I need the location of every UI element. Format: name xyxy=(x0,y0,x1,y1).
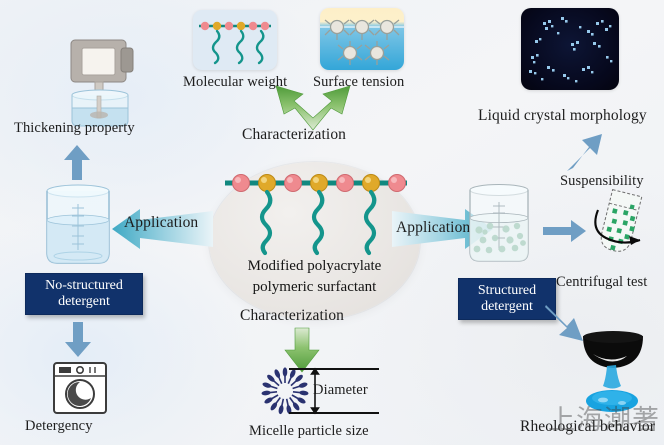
characterization-top-label: Characterization xyxy=(242,126,346,144)
up-arrow-left xyxy=(62,143,92,181)
center-title-line1: Modified polyacrylate xyxy=(209,258,420,275)
center-oval: Modified polyacrylate polymeric surfacta… xyxy=(209,162,420,320)
diameter-label: Diameter xyxy=(313,382,368,399)
no-structured-detergent-line2: detergent xyxy=(32,294,136,310)
thickening-property-icon xyxy=(55,6,153,116)
application-right-label: Application xyxy=(396,219,470,237)
rheological-behavior-icon xyxy=(577,332,663,418)
no-structured-detergent-box[interactable]: No-structured detergent xyxy=(25,273,143,315)
characterization-up-arrow xyxy=(254,84,372,130)
polymer-chain-icon xyxy=(221,170,411,262)
washing-machine-icon xyxy=(52,361,108,415)
right-arrow-centrifuge xyxy=(543,218,588,244)
structured-detergent-beaker-icon xyxy=(461,182,537,272)
no-structured-detergent-beaker-icon xyxy=(38,182,118,274)
application-left-label: Application xyxy=(124,214,198,232)
thickening-property-label: Thickening property xyxy=(14,120,135,137)
detergency-label: Detergency xyxy=(25,418,93,435)
figure-canvas: Modified polyacrylate polymeric surfacta… xyxy=(0,0,664,445)
structured-detergent-line2: detergent xyxy=(465,299,549,315)
surface-tension-icon xyxy=(320,8,404,70)
molecular-weight-icon xyxy=(193,10,277,70)
liquid-crystal-morphology-icon xyxy=(521,8,619,90)
structured-detergent-line1: Structured xyxy=(465,283,549,299)
center-title-line2: polymeric surfactant xyxy=(209,279,420,296)
centrifugal-test-icon xyxy=(592,188,658,266)
suspensibility-label: Suspensibility xyxy=(560,173,644,190)
rheological-behavior-label: Rheological behavior xyxy=(520,418,655,436)
down-arrow-left xyxy=(63,320,93,358)
centrifugal-test-label: Centrifugal test xyxy=(556,274,647,291)
no-structured-detergent-line1: No-structured xyxy=(32,278,136,294)
characterization-bottom-label: Characterization xyxy=(240,307,344,325)
suspensibility-up-arrow xyxy=(562,130,606,174)
liquid-crystal-morphology-label: Liquid crystal morphology xyxy=(478,107,647,125)
micelle-particle-size-label: Micelle particle size xyxy=(249,423,369,440)
